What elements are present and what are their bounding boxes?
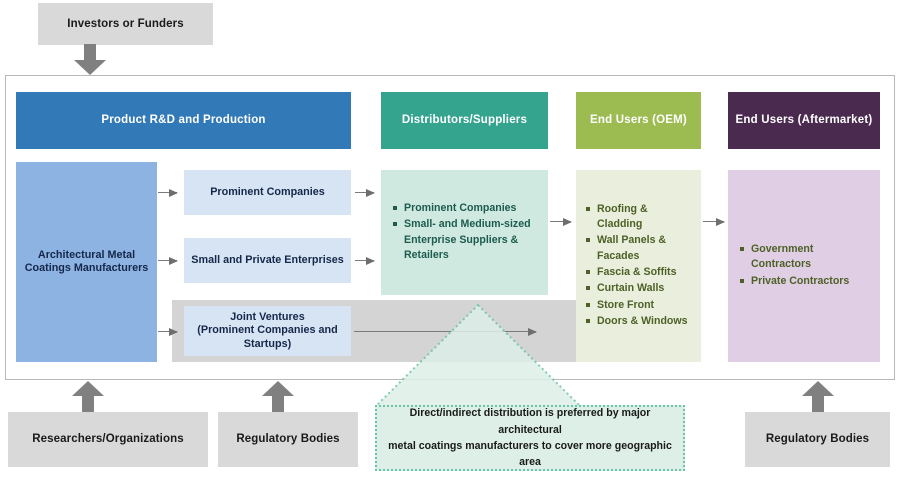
list-item: Prominent Companies <box>393 201 536 216</box>
panel-distributors-suppliers: Prominent Companies Small- and Medium-si… <box>381 170 548 295</box>
callout-line-1: Direct/indirect distribution is preferre… <box>410 407 651 435</box>
callout-cone <box>375 303 685 408</box>
joint-ventures-line-3: Startups) <box>244 338 291 351</box>
stakeholder-label: Regulatory Bodies <box>766 432 869 446</box>
column-header-label: End Users (Aftermarket) <box>736 113 873 127</box>
list-item: Small- and Medium-sized Enterprise Suppl… <box>393 217 536 263</box>
stakeholder-regulatory-bodies-left: Regulatory Bodies <box>218 412 358 467</box>
primary-box-manufacturers: Architectural Metal Coatings Manufacture… <box>16 162 157 362</box>
callout-distribution-note: Direct/indirect distribution is preferre… <box>375 405 685 471</box>
column-header-end-users-oem: End Users (OEM) <box>576 92 701 149</box>
diagram-canvas: Investors or Funders Product R&D and Pro… <box>0 0 900 477</box>
list-item: Fascia & Soffits <box>586 265 691 280</box>
arrow-manufacturers-to-small-private <box>158 260 177 261</box>
arrow-oem-to-aftermarket <box>703 221 724 222</box>
sub-box-label: Small and Private Enterprises <box>191 254 343 267</box>
arrow-manufacturers-to-prominent-companies <box>158 192 177 193</box>
list-item: Curtain Walls <box>586 281 691 296</box>
column-header-label: Product R&D and Production <box>101 113 265 127</box>
up-block-arrow-regulatory-right <box>800 380 836 413</box>
list-item: Private Contractors <box>740 274 868 289</box>
column-header-distributors-suppliers: Distributors/Suppliers <box>381 92 548 149</box>
stakeholder-label: Investors or Funders <box>67 17 183 31</box>
arrow-small-private-to-distributors <box>355 260 374 261</box>
primary-box-label: Architectural Metal Coatings Manufacture… <box>24 249 149 276</box>
callout-line-2: metal coatings manufacturers to cover mo… <box>388 440 672 468</box>
stakeholder-researchers-organizations: Researchers/Organizations <box>8 412 208 467</box>
list-item: Government Contractors <box>740 242 868 273</box>
arrow-manufacturers-to-joint-ventures <box>158 331 177 332</box>
arrow-distributors-to-oem <box>550 221 571 222</box>
list-item: Roofing & Cladding <box>586 202 691 233</box>
joint-ventures-line-1: Joint Ventures <box>230 311 304 324</box>
column-header-label: Distributors/Suppliers <box>402 113 527 127</box>
arrow-prominent-companies-to-distributors <box>355 192 374 193</box>
sub-box-label: Prominent Companies <box>210 186 325 199</box>
up-block-arrow-researchers <box>70 380 106 413</box>
up-block-arrow-regulatory-left <box>260 380 296 413</box>
joint-ventures-line-2: (Prominent Companies and <box>197 324 337 337</box>
panel-end-users-aftermarket: Government Contractors Private Contracto… <box>728 170 880 362</box>
list-item: Wall Panels & Facades <box>586 233 691 264</box>
stakeholder-label: Regulatory Bodies <box>236 432 339 446</box>
down-block-arrow-investors <box>72 44 108 76</box>
sub-box-small-private-enterprises: Small and Private Enterprises <box>184 238 351 283</box>
column-header-end-users-aftermarket: End Users (Aftermarket) <box>728 92 880 149</box>
stakeholder-regulatory-bodies-right: Regulatory Bodies <box>745 412 890 467</box>
distributors-list: Prominent Companies Small- and Medium-si… <box>393 201 536 264</box>
aftermarket-list: Government Contractors Private Contracto… <box>740 242 868 290</box>
stakeholder-investors-or-funders: Investors or Funders <box>38 3 213 45</box>
stakeholder-label: Researchers/Organizations <box>32 432 183 446</box>
column-header-label: End Users (OEM) <box>590 113 687 127</box>
sub-box-prominent-companies: Prominent Companies <box>184 170 351 215</box>
column-header-product-rd-production: Product R&D and Production <box>16 92 351 149</box>
sub-box-joint-ventures: Joint Ventures (Prominent Companies and … <box>184 306 351 356</box>
